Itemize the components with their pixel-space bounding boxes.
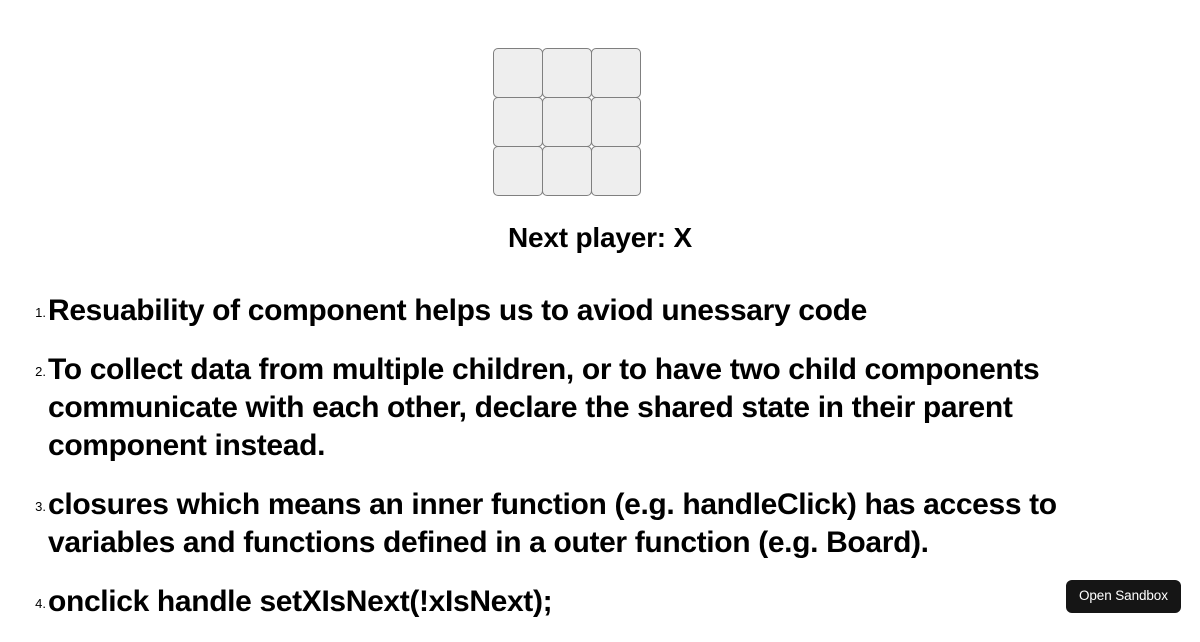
board-row — [493, 48, 640, 98]
board-square-7[interactable] — [542, 146, 592, 196]
notes-list: Resuability of component helps us to avi… — [0, 292, 1200, 642]
list-item: closures which means an inner function (… — [48, 486, 1160, 562]
board-square-4[interactable] — [542, 97, 592, 147]
board-row — [493, 97, 640, 147]
list-item-text: Resuability of component helps us to avi… — [48, 294, 867, 327]
board-square-1[interactable] — [542, 48, 592, 98]
list-item: onclick handle setXIsNext(!xIsNext); — [48, 583, 1160, 621]
board-row — [493, 146, 640, 196]
open-sandbox-button[interactable]: Open Sandbox — [1066, 580, 1181, 613]
game-board — [493, 48, 640, 196]
game-status: Next player: X — [0, 222, 1200, 254]
list-item: To collect data from multiple children, … — [48, 351, 1160, 465]
board-square-3[interactable] — [493, 97, 543, 147]
list-item: Resuability of component helps us to avi… — [48, 292, 1160, 330]
list-item-text: closures which means an inner function (… — [48, 488, 1057, 559]
board-square-8[interactable] — [591, 146, 641, 196]
board-square-6[interactable] — [493, 146, 543, 196]
list-item-text: To collect data from multiple children, … — [48, 353, 1039, 462]
board-square-5[interactable] — [591, 97, 641, 147]
board-square-0[interactable] — [493, 48, 543, 98]
list-item-text: onclick handle setXIsNext(!xIsNext); — [48, 585, 552, 618]
board-square-2[interactable] — [591, 48, 641, 98]
